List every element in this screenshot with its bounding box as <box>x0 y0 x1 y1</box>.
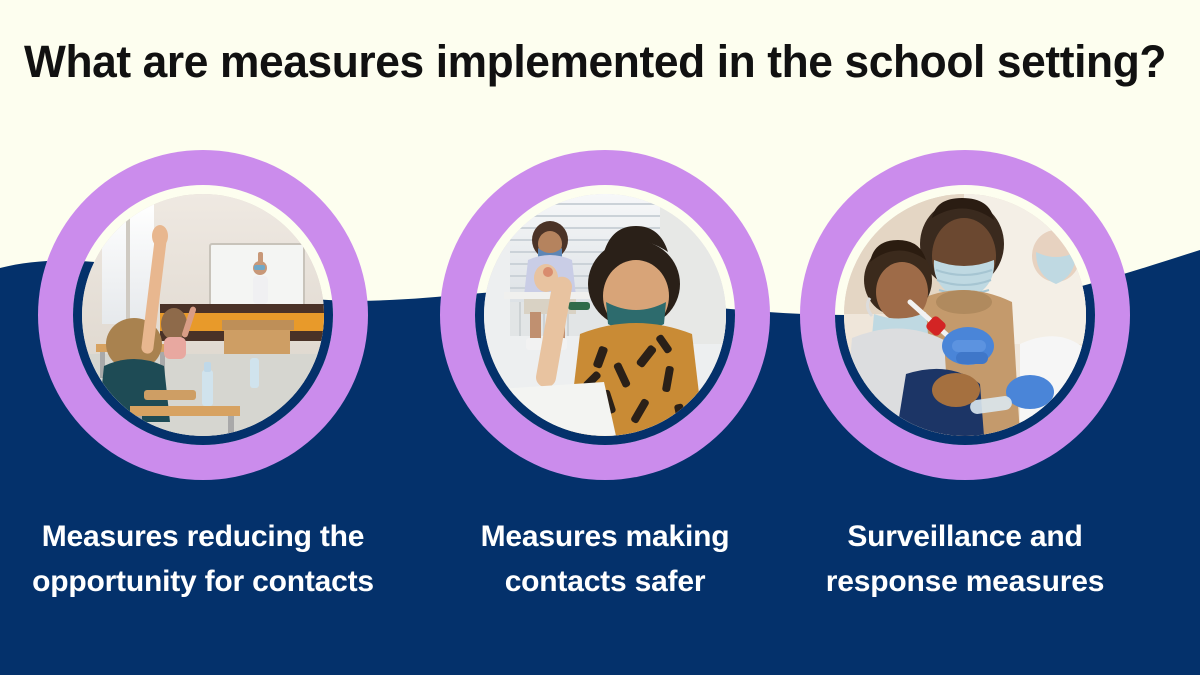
caption-line-2: contacts safer <box>425 559 785 604</box>
card-caption: Surveillance and response measures <box>785 514 1145 604</box>
page-title: What are measures implemented in the sch… <box>24 36 1167 88</box>
slide-canvas: What are measures implemented in the sch… <box>0 0 1200 675</box>
caption-line-2: response measures <box>785 559 1145 604</box>
card-photo-swab-test <box>844 194 1086 436</box>
card-surveillance-response[interactable]: Surveillance and response measures <box>800 150 1130 630</box>
caption-line-1: Measures making <box>425 514 785 559</box>
card-photo-classroom <box>82 194 324 436</box>
caption-line-1: Measures reducing the <box>8 514 398 559</box>
card-measures-reducing-contacts[interactable]: Measures reducing the opportunity for co… <box>38 150 368 630</box>
card-caption: Measures making contacts safer <box>425 514 785 604</box>
caption-line-2: opportunity for contacts <box>8 559 398 604</box>
classroom-icon <box>82 194 324 436</box>
swab-test-icon <box>844 194 1086 436</box>
caption-line-1: Surveillance and <box>785 514 1145 559</box>
masked-students-icon <box>484 194 726 436</box>
card-photo-masked-students <box>484 194 726 436</box>
card-measures-making-contacts-safer[interactable]: Measures making contacts safer <box>440 150 770 630</box>
card-row: Measures reducing the opportunity for co… <box>0 0 1200 675</box>
card-caption: Measures reducing the opportunity for co… <box>8 514 398 604</box>
